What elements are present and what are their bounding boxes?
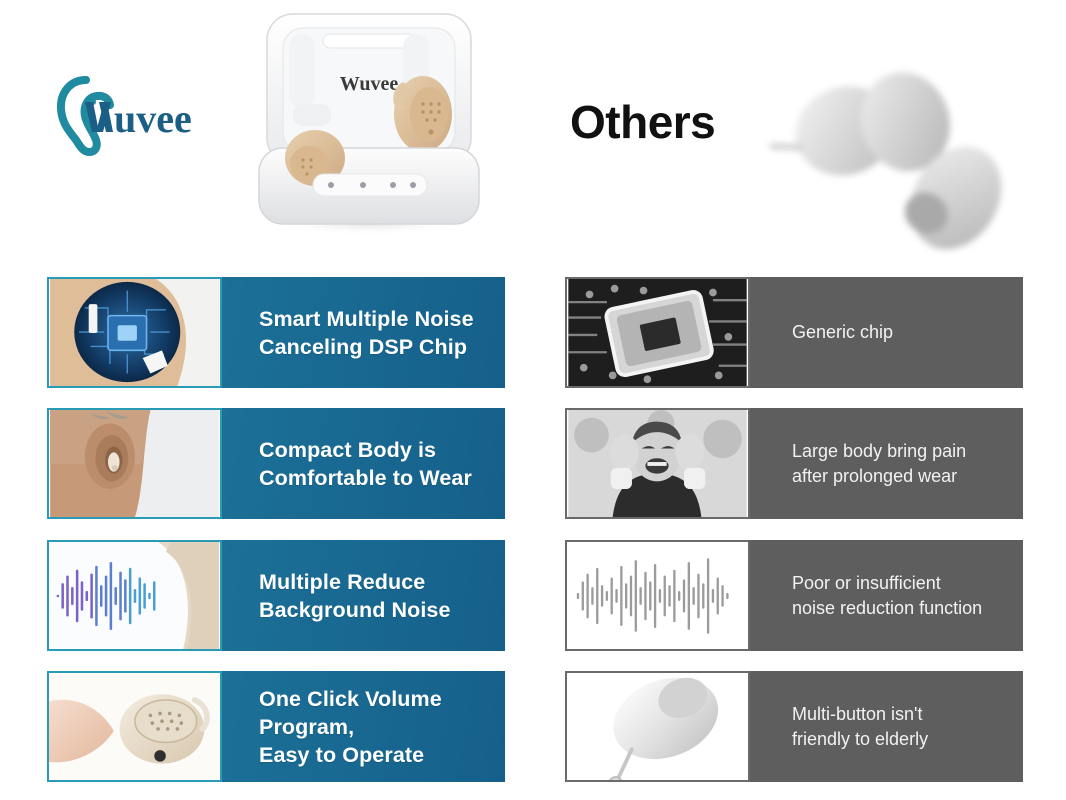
brand-feature-card: Smart Multiple Noise Canceling DSP Chip	[47, 277, 505, 388]
grayscale-man-covering-ears-in-pain-icon	[565, 408, 750, 519]
brand-feature-text: One Click Volume Program, Easy to Operat…	[259, 685, 442, 769]
brand-feature-caption: Multiple Reduce Background Noise	[222, 540, 505, 651]
ear-with-circuit-chip-icon	[47, 277, 222, 388]
grayscale-cpu-chip-icon	[565, 277, 750, 388]
comparison-row-3-brand: Multiple Reduce Background Noise	[47, 540, 505, 651]
comparison-infographic: uvee	[0, 0, 1066, 800]
comparison-row-4-others: Multi-button isn't friendly to elderly	[565, 671, 1023, 782]
ear-wearing-compact-hearing-aid-icon	[47, 408, 222, 519]
others-feature-card: Multi-button isn't friendly to elderly	[565, 671, 1023, 782]
comparison-row-4-brand: One Click Volume Program, Easy to Operat…	[47, 671, 505, 782]
others-feature-card: Generic chip	[565, 277, 1023, 388]
brand-feature-card: Multiple Reduce Background Noise	[47, 540, 505, 651]
others-feature-text: Poor or insufficient noise reduction fun…	[792, 571, 982, 621]
comparison-row-1-brand: Smart Multiple Noise Canceling DSP Chip	[47, 277, 505, 388]
comparison-row-3-others: Poor or insufficient noise reduction fun…	[565, 540, 1023, 651]
others-feature-caption: Large body bring pain after prolonged we…	[750, 408, 1023, 519]
brand-feature-card: One Click Volume Program, Easy to Operat…	[47, 671, 505, 782]
others-feature-caption: Generic chip	[750, 277, 1023, 388]
brand-feature-text: Multiple Reduce Background Noise	[259, 568, 451, 624]
comparison-row-1-others: Generic chip	[565, 277, 1023, 388]
others-feature-card: Poor or insufficient noise reduction fun…	[565, 540, 1023, 651]
grayscale-audio-waveform-icon	[565, 540, 750, 651]
others-feature-caption: Multi-button isn't friendly to elderly	[750, 671, 1023, 782]
blue-audio-waveform-icon	[47, 540, 222, 651]
others-feature-card: Large body bring pain after prolonged we…	[565, 408, 1023, 519]
brand-feature-card: Compact Body is Comfortable to Wear	[47, 408, 505, 519]
finger-pressing-hearing-aid-button-icon	[47, 671, 222, 782]
brand-feature-caption: One Click Volume Program, Easy to Operat…	[222, 671, 505, 782]
brand-feature-text: Smart Multiple Noise Canceling DSP Chip	[259, 305, 474, 361]
brand-feature-caption: Smart Multiple Noise Canceling DSP Chip	[222, 277, 505, 388]
comparison-row-2-others: Large body bring pain after prolonged we…	[565, 408, 1023, 519]
others-feature-caption: Poor or insufficient noise reduction fun…	[750, 540, 1023, 651]
brand-feature-caption: Compact Body is Comfortable to Wear	[222, 408, 505, 519]
others-title: Others	[570, 92, 715, 152]
others-feature-text: Large body bring pain after prolonged we…	[792, 439, 966, 489]
grayscale-large-hearing-aid-icon	[565, 671, 750, 782]
brand-feature-text: Compact Body is Comfortable to Wear	[259, 436, 472, 492]
comparison-grid: Smart Multiple Noise Canceling DSP Chip	[0, 0, 1066, 800]
others-feature-text: Generic chip	[792, 320, 893, 345]
comparison-row-2-brand: Compact Body is Comfortable to Wear	[47, 408, 505, 519]
others-feature-text: Multi-button isn't friendly to elderly	[792, 702, 928, 752]
